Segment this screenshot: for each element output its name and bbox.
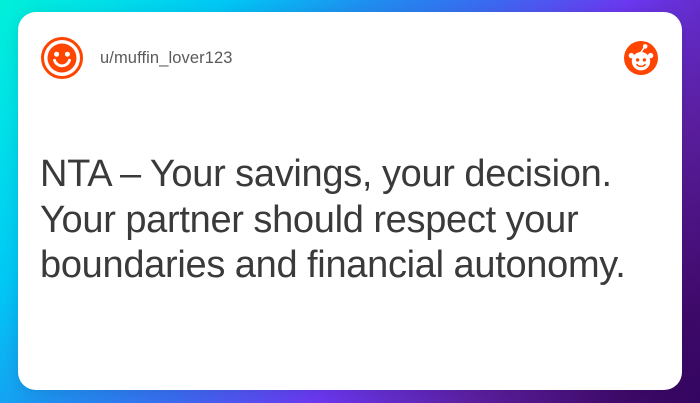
card-header: u/muffin_lover123 xyxy=(18,12,682,104)
reddit-snoo-icon xyxy=(624,41,658,75)
smiley-face-avatar-icon xyxy=(40,36,84,80)
comment-text: NTA – Your savings, your decision. Your … xyxy=(40,152,648,289)
username-label: u/muffin_lover123 xyxy=(100,49,233,68)
card-body: NTA – Your savings, your decision. Your … xyxy=(40,152,648,289)
screenshot-canvas: u/muffin_lover123 NTA – Your savings, yo… xyxy=(0,0,700,403)
reddit-comment-card: u/muffin_lover123 NTA – Your savings, yo… xyxy=(18,12,682,390)
